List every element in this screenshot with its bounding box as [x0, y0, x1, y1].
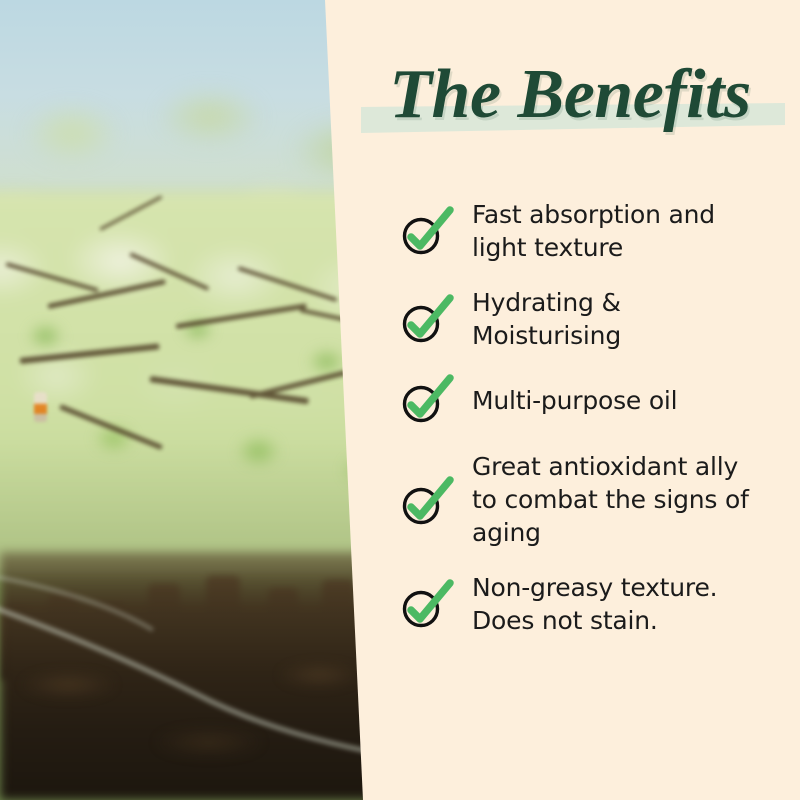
- benefit-item-antioxidant: Great antioxidant ally to combat the sig…: [398, 448, 758, 549]
- benefit-item-multi-purpose: Multi-purpose oil: [398, 372, 758, 428]
- benefit-item-hydrating: Hydrating & Moisturising: [398, 284, 758, 352]
- check-circle-icon: [398, 474, 460, 530]
- benefits-list: Fast absorption and light texture Hydrat…: [398, 196, 758, 657]
- benefit-label: Fast absorption and light texture: [460, 196, 758, 264]
- benefit-label: Non-greasy texture. Does not stain.: [460, 569, 758, 637]
- check-circle-icon: [398, 372, 460, 428]
- check-circle-icon: [398, 204, 460, 260]
- page-title-text: The Benefits: [355, 45, 785, 145]
- benefit-item-non-greasy: Non-greasy texture. Does not stain.: [398, 569, 758, 637]
- benefit-label: Great antioxidant ally to combat the sig…: [460, 448, 758, 549]
- benefit-item-fast-absorption: Fast absorption and light texture: [398, 196, 758, 264]
- check-circle-icon: [398, 577, 460, 633]
- benefit-label: Hydrating & Moisturising: [460, 284, 758, 352]
- page-title: The Benefits: [355, 45, 785, 155]
- check-circle-icon: [398, 292, 460, 348]
- photo-vignette: [0, 0, 380, 800]
- benefit-label: Multi-purpose oil: [460, 372, 758, 417]
- benefits-infographic: The Benefits Fast absorption and light t…: [0, 0, 800, 800]
- orchard-photo: [0, 0, 380, 800]
